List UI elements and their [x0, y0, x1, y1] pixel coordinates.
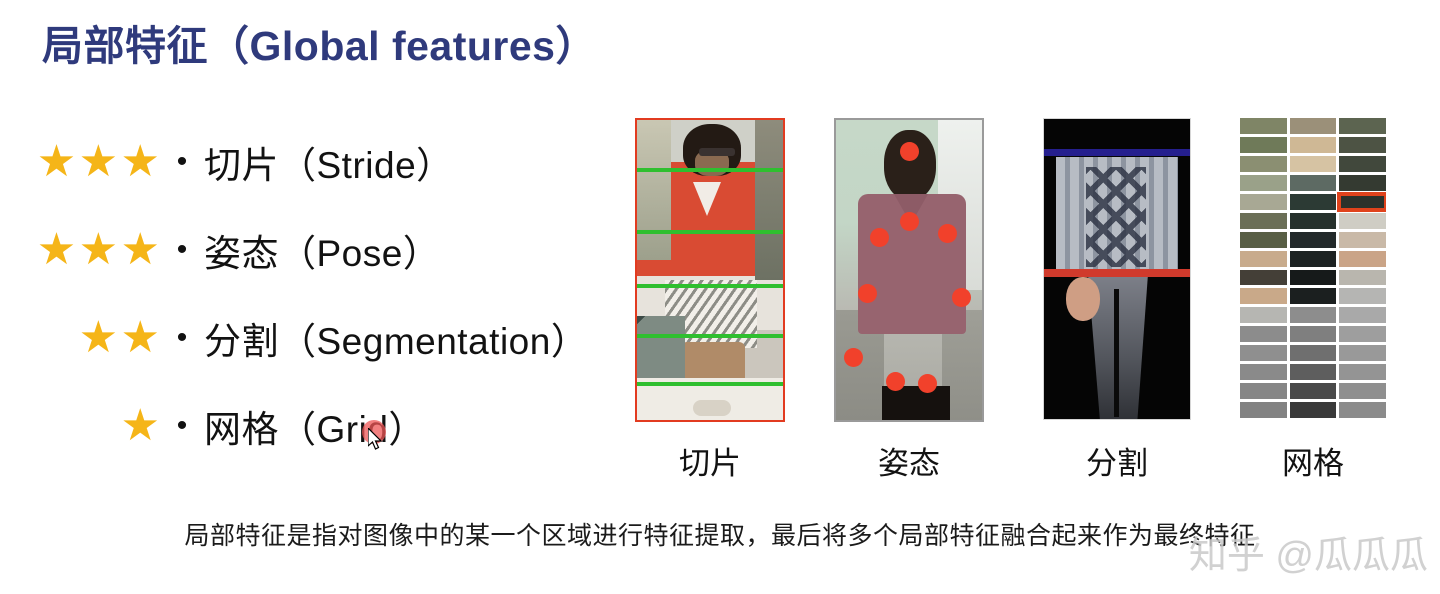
- grid-cell: [1240, 345, 1287, 361]
- figure-pose-image: [834, 118, 984, 422]
- grid-cell: [1290, 288, 1337, 304]
- bullet-dot-icon: •: [160, 411, 204, 441]
- slide-footnote: 局部特征是指对图像中的某一个区域进行特征提取，最后将多个局部特征融合起来作为最终…: [0, 516, 1440, 552]
- grid-cell-highlighted: [1339, 194, 1386, 210]
- background-rail: [637, 316, 685, 386]
- star-rating: ★: [0, 404, 160, 448]
- pose-keypoint: [900, 212, 919, 231]
- shirt-pattern: [1086, 167, 1146, 267]
- grid-cell: [1290, 194, 1337, 210]
- figure-segmentation-image: [1043, 118, 1191, 420]
- list-item-label: 姿态（Pose）: [204, 223, 440, 277]
- grid-cell: [1339, 307, 1386, 323]
- pose-keypoint: [886, 372, 905, 391]
- star-icon: ★: [79, 228, 118, 272]
- pose-keypoint: [938, 224, 957, 243]
- figure-caption: 姿态: [834, 438, 984, 483]
- grid-cell: [1339, 213, 1386, 229]
- bullet-dot-icon: •: [160, 235, 204, 265]
- star-icon: ★: [121, 228, 160, 272]
- grid-cell: [1290, 402, 1337, 418]
- arrow-cursor-icon: [368, 428, 388, 454]
- mouse-cursor: [358, 418, 402, 462]
- grid-cell: [1240, 175, 1287, 191]
- leg-gap: [1114, 289, 1119, 417]
- list-item[interactable]: ★ ★ ★ • 姿态（Pose）: [0, 206, 600, 294]
- grid-cell: [1339, 326, 1386, 342]
- grid-cell: [1339, 232, 1386, 248]
- pose-keypoint: [844, 348, 863, 367]
- star-rating: ★ ★: [0, 316, 160, 360]
- grid-cell: [1339, 137, 1386, 153]
- grid-cell: [1290, 232, 1337, 248]
- grid-cell: [1339, 270, 1386, 286]
- grid-cell: [1240, 307, 1287, 323]
- grid-cell: [1339, 402, 1386, 418]
- grid-cell: [1339, 156, 1386, 172]
- grid-cell: [1339, 345, 1386, 361]
- star-icon: ★: [121, 140, 160, 184]
- page-title: 局部特征（Global features）: [42, 12, 597, 72]
- grid-cell: [1290, 137, 1337, 153]
- star-icon: ★: [121, 404, 160, 448]
- grid-cell: [1339, 118, 1386, 134]
- stride-divider-line: [637, 230, 783, 234]
- grid-cell: [1290, 175, 1337, 191]
- grid-cell: [1290, 383, 1337, 399]
- list-item-label: 分割（Segmentation）: [204, 311, 588, 365]
- grid-cell: [1290, 307, 1337, 323]
- figure-grid-image: [1240, 118, 1386, 418]
- grid-cell: [1240, 194, 1287, 210]
- grid-cell: [1240, 326, 1287, 342]
- grid-cell: [1339, 288, 1386, 304]
- list-item-label: 切片（Stride）: [204, 135, 454, 189]
- grid-cell: [1240, 118, 1287, 134]
- grid-cell: [1339, 251, 1386, 267]
- grid-cell: [1339, 175, 1386, 191]
- grid-cell: [1240, 156, 1287, 172]
- figure-strip: 切片 姿态: [600, 118, 1440, 488]
- stride-divider-line: [637, 168, 783, 172]
- grid-cell: [1339, 383, 1386, 399]
- pose-keypoint: [952, 288, 971, 307]
- background-right: [755, 120, 783, 280]
- bullet-dot-icon: •: [160, 323, 204, 353]
- segment-boundary-line-middle: [1044, 269, 1190, 277]
- figure-grid: 网格: [1240, 118, 1386, 418]
- grid-cell: [1290, 213, 1337, 229]
- segment-boundary-line-top: [1044, 149, 1190, 156]
- figure-stride: 切片: [635, 118, 785, 422]
- grid-cell: [1290, 345, 1337, 361]
- star-rating: ★ ★ ★: [0, 140, 160, 184]
- star-icon: ★: [121, 316, 160, 360]
- grid-cell: [1290, 326, 1337, 342]
- grid-cell: [1290, 156, 1337, 172]
- grid-cell: [1290, 270, 1337, 286]
- grid-cell: [1240, 383, 1287, 399]
- stride-divider-line: [637, 382, 783, 386]
- list-item[interactable]: ★ • 网格（Grid）: [0, 382, 600, 470]
- background-left: [637, 120, 671, 260]
- person-neckline: [693, 182, 721, 216]
- figure-caption: 分割: [1043, 438, 1191, 483]
- grid-cell: [1240, 402, 1287, 418]
- bullet-dot-icon: •: [160, 147, 204, 177]
- grid-cell: [1290, 118, 1337, 134]
- grid-cell: [1240, 270, 1287, 286]
- stride-divider-line: [637, 284, 783, 288]
- grid-cell: [1240, 213, 1287, 229]
- star-icon: ★: [37, 228, 76, 272]
- person-head: [884, 130, 936, 200]
- sunglasses-icon: [699, 148, 735, 156]
- person-shoes: [693, 400, 731, 416]
- star-icon: ★: [79, 140, 118, 184]
- grid-cell: [1290, 364, 1337, 380]
- grid-cell: [1240, 364, 1287, 380]
- figure-segmentation: 分割: [1043, 118, 1191, 420]
- star-icon: ★: [79, 316, 118, 360]
- grid-cell: [1290, 251, 1337, 267]
- star-icon: ★: [37, 140, 76, 184]
- pose-keypoint: [918, 374, 937, 393]
- feature-bullet-list: ★ ★ ★ • 切片（Stride） ★ ★ ★ • 姿态（Pose） ★ ★ …: [0, 118, 600, 470]
- figure-pose: 姿态: [834, 118, 984, 422]
- figure-caption: 网格: [1240, 438, 1386, 483]
- grid-cell: [1240, 251, 1287, 267]
- segmented-hand: [1066, 277, 1100, 321]
- grid-cell: [1240, 232, 1287, 248]
- grid-cell: [1240, 288, 1287, 304]
- list-item[interactable]: ★ ★ • 分割（Segmentation）: [0, 294, 600, 382]
- grid-cell: [1240, 137, 1287, 153]
- pose-keypoint: [900, 142, 919, 161]
- person-pants: [882, 386, 950, 420]
- stride-divider-line: [637, 334, 783, 338]
- pose-keypoint: [870, 228, 889, 247]
- list-item[interactable]: ★ ★ ★ • 切片（Stride）: [0, 118, 600, 206]
- star-rating: ★ ★ ★: [0, 228, 160, 272]
- figure-caption: 切片: [635, 438, 785, 483]
- pose-keypoint: [858, 284, 877, 303]
- grid-cell: [1339, 364, 1386, 380]
- figure-stride-image: [635, 118, 785, 422]
